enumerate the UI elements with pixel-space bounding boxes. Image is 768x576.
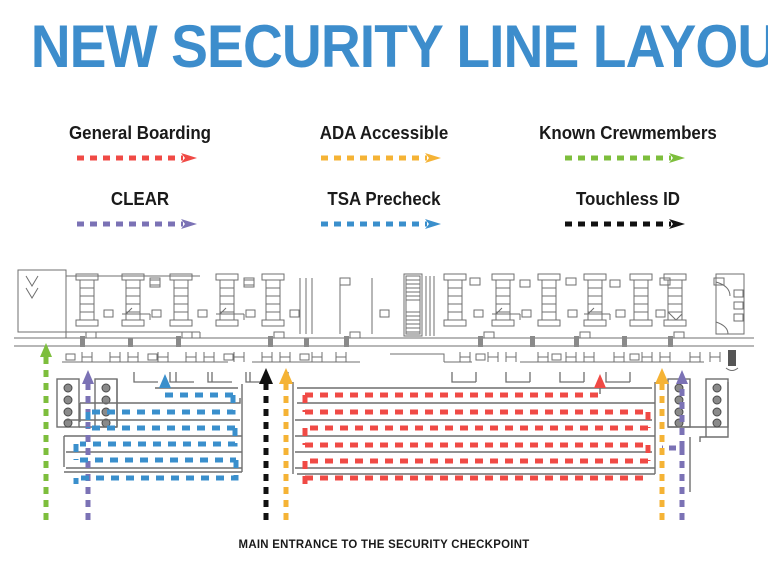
page-title: NEW SECURITY LINE LAYOUT — [31, 16, 738, 78]
legend-label: General Boarding — [25, 122, 254, 144]
terminal-architecture — [14, 270, 754, 371]
legend-item-ada-accessible: ADA Accessible — [262, 122, 506, 188]
dashed-arrow-icon — [262, 218, 506, 230]
checkpoint-lanes — [76, 274, 724, 336]
dashed-arrow-icon — [506, 218, 750, 230]
dashed-arrow-icon — [506, 152, 750, 164]
escalator — [404, 274, 434, 336]
general-boarding-arrow-icon — [594, 374, 606, 388]
legend-label: ADA Accessible — [269, 122, 498, 144]
general-boarding-route — [305, 395, 648, 484]
legend-item-general-boarding: General Boarding — [18, 122, 262, 188]
dashed-arrow-icon — [18, 152, 262, 164]
legend-item-touchless-id: Touchless ID — [506, 188, 750, 254]
legend-label: Touchless ID — [513, 188, 742, 210]
floorplan-diagram — [0, 262, 768, 534]
lower-fixtures — [62, 350, 738, 371]
touchless-id-route — [259, 368, 273, 520]
legend-item-clear: CLEAR — [18, 188, 262, 254]
right-vestibule — [716, 274, 744, 334]
known-crewmembers-route — [40, 343, 52, 520]
legend-item-tsa-precheck: TSA Precheck — [262, 188, 506, 254]
floorplan-caption: MAIN ENTRANCE TO THE SECURITY CHECKPOINT — [19, 537, 749, 551]
legend-label: TSA Precheck — [269, 188, 498, 210]
legend-label: Known Crewmembers — [513, 122, 742, 144]
queue-area — [57, 372, 728, 492]
right-stanchion-pod — [668, 379, 728, 492]
legend: General Boarding ADA Accessible Known Cr… — [18, 122, 750, 254]
legend-label: CLEAR — [25, 188, 254, 210]
dashed-arrow-icon — [18, 218, 262, 230]
dashed-arrow-icon — [262, 152, 506, 164]
legend-item-known-crewmembers: Known Crewmembers — [506, 122, 750, 188]
tsa-precheck-arrow-icon — [159, 374, 171, 388]
